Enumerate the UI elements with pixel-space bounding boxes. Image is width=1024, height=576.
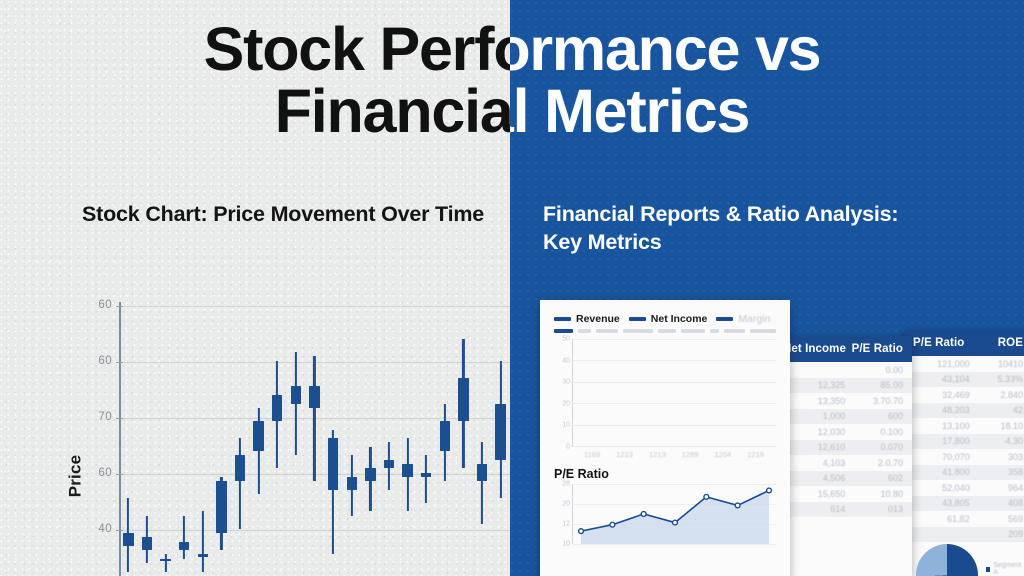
legend-swatch-icon xyxy=(986,567,990,572)
candlestick-wick xyxy=(164,554,166,571)
table-cell: 10410 xyxy=(978,359,1023,369)
table-header-cell: P/E Ratio xyxy=(850,343,903,355)
candlestick xyxy=(365,296,375,576)
table-row: 41,800358 xyxy=(904,465,1024,481)
candlestick xyxy=(440,296,450,576)
candlestick-body xyxy=(421,473,431,477)
candlestick xyxy=(235,296,245,576)
table-cell: 52,040 xyxy=(913,483,978,493)
table-cell: 42 xyxy=(978,405,1023,415)
candlestick-body xyxy=(477,464,487,481)
candlestick-wick xyxy=(481,442,483,524)
candlestick xyxy=(495,296,505,576)
table-row: 4,1032.0.70 xyxy=(774,455,912,471)
table-row: 17,8004.30 xyxy=(904,434,1024,450)
table-cell: 121,000 xyxy=(913,359,978,369)
table-cell: 13,350 xyxy=(783,396,853,406)
table-cell: 0.070 xyxy=(853,442,903,452)
candlestick xyxy=(198,296,208,576)
table-cell: 209 xyxy=(978,529,1023,539)
legend-swatch-icon xyxy=(716,317,733,321)
table-cell: 964 xyxy=(978,483,1023,493)
slide-canvas: Stock Performance vs Financial Metrics S… xyxy=(0,0,1024,576)
table-row: 209 xyxy=(904,527,1024,543)
candlestick xyxy=(328,296,338,576)
table-cell: 0.00 xyxy=(853,365,903,375)
table-cell: 12,030 xyxy=(783,427,853,437)
legend-label: Revenue xyxy=(576,313,620,325)
table-cell: 85.00 xyxy=(853,380,903,390)
candlestick-body xyxy=(347,477,357,490)
candlestick-body xyxy=(198,554,208,557)
candlestick-wick xyxy=(183,516,185,559)
x-axis-tick-label: 1169 xyxy=(584,450,600,459)
table-row: 614013 xyxy=(774,502,912,518)
table-cell: 358 xyxy=(978,467,1023,477)
candlestick-wick xyxy=(295,352,297,455)
table-row: 0.00 xyxy=(774,362,912,378)
y-axis-tick-label: 50 xyxy=(562,336,570,343)
candlestick xyxy=(216,296,226,576)
y-axis-tick-label: 60 xyxy=(72,355,112,367)
candlestick-body xyxy=(160,559,170,562)
table-cell: 5.33% xyxy=(978,374,1023,384)
document-card-netincome-table[interactable]: Net Income P/E Ratio 0.0012,32585.0013,3… xyxy=(774,336,912,576)
table-body: 121,0001041043,1045.33%32,4692.84048,203… xyxy=(904,356,1024,542)
candlestick-body xyxy=(216,481,226,533)
candlestick-body xyxy=(235,455,245,481)
grid-line: 0 xyxy=(573,446,776,447)
candlestick-body xyxy=(272,395,282,421)
candlestick xyxy=(458,296,468,576)
candlestick xyxy=(291,296,301,576)
pe-ratio-line-series xyxy=(573,484,777,544)
candlestick-body xyxy=(440,421,450,451)
legend-label: Net Income xyxy=(651,313,708,325)
table-row: 32,4692.840 xyxy=(904,387,1024,403)
table-row: 13,10018.10 xyxy=(904,418,1024,434)
table-cell: 48,203 xyxy=(913,405,978,415)
table-cell: 12,325 xyxy=(783,380,853,390)
table-cell: 12,610 xyxy=(783,442,853,452)
y-axis-tick-label: 60 xyxy=(72,467,112,479)
table-header-cell: P/E Ratio xyxy=(913,337,974,349)
candlestick-body xyxy=(179,542,189,551)
legend-label: Segment A xyxy=(993,562,1022,576)
table-cell: 4,103 xyxy=(783,458,853,468)
y-axis-tick-label: 40 xyxy=(562,357,570,364)
document-card-roe-table[interactable]: P/E Ratio ROE 121,0001041043,1045.33%32,… xyxy=(904,330,1024,576)
candlestick xyxy=(123,296,133,576)
legend-swatch-icon xyxy=(554,317,571,321)
bar-chart-x-axis: 116912131213128912041219 xyxy=(572,447,776,459)
left-panel-subheading: Stock Chart: Price Movement Over Time xyxy=(82,200,492,228)
table-cell: 18.10 xyxy=(978,421,1023,431)
candlestick-body xyxy=(253,421,263,451)
decorative-text-lines xyxy=(554,329,776,333)
legend-label: Margin xyxy=(738,313,770,325)
candlestick xyxy=(347,296,357,576)
candlestick xyxy=(384,296,394,576)
table-cell: 10.80 xyxy=(853,489,903,499)
table-cell: 41,800 xyxy=(913,467,978,477)
pie-chart-icon xyxy=(916,544,978,576)
table-cell: 70,070 xyxy=(913,452,978,462)
x-axis-tick-label: 1289 xyxy=(682,450,699,459)
y-axis-tick-label: 0 xyxy=(566,444,570,451)
candlestick-body xyxy=(458,378,468,421)
table-cell: 303 xyxy=(978,452,1023,462)
table-row: 52,040964 xyxy=(904,480,1024,496)
pie-chart-legend: Segment A xyxy=(986,562,1022,576)
table-row: 12,6100.070 xyxy=(774,440,912,456)
candlestick xyxy=(253,296,263,576)
candlestick-wick xyxy=(425,455,427,502)
candlestick-wick xyxy=(239,438,241,528)
table-cell: 4.30 xyxy=(978,436,1023,446)
y-axis-tick-label: 60 xyxy=(72,299,112,311)
candlestick xyxy=(421,296,431,576)
candlestick-series xyxy=(119,296,510,576)
table-cell: 600 xyxy=(853,411,903,421)
table-row: 43,1045.33% xyxy=(904,372,1024,388)
y-axis-tick-label: 30 xyxy=(562,379,570,386)
candlestick xyxy=(272,296,282,576)
candlestick-body xyxy=(328,438,338,490)
candlestick-body xyxy=(365,468,375,481)
table-cell: 2.0.70 xyxy=(853,458,903,468)
candlestick-wick xyxy=(313,356,315,481)
x-axis-tick-label: 1219 xyxy=(747,450,764,459)
table-cell: 569 xyxy=(978,514,1023,524)
table-cell: 4,506 xyxy=(783,473,853,483)
table-row: 43,805408 xyxy=(904,496,1024,512)
bar-series xyxy=(573,339,776,446)
table-cell: 32,469 xyxy=(913,390,978,400)
pe-ratio-chart-title: P/E Ratio xyxy=(554,467,776,481)
table-header-cell: ROE xyxy=(974,337,1023,349)
y-axis-tick-label: 28 xyxy=(562,481,570,488)
candlestick xyxy=(309,296,319,576)
table-header-row: P/E Ratio ROE xyxy=(904,330,1024,356)
table-cell: 17,800 xyxy=(913,436,978,446)
table-header-row: Net Income P/E Ratio xyxy=(774,336,912,362)
table-cell: 408 xyxy=(978,498,1023,508)
table-cell: 43,104 xyxy=(913,374,978,384)
candlestick xyxy=(179,296,189,576)
legend-item-margin: Margin xyxy=(716,313,770,325)
revenue-bar-chart: 50403020100 xyxy=(572,339,776,447)
table-row: 12,32585.00 xyxy=(774,378,912,394)
legend-item-net-income: Net Income xyxy=(629,313,708,325)
table-cell: 0.100 xyxy=(853,427,903,437)
table-body: 0.0012,32585.0013,3503.70.701,00060012,0… xyxy=(774,362,912,517)
candlestick-body xyxy=(495,404,505,460)
legend-swatch-icon xyxy=(629,317,646,321)
bar-chart-legend: Revenue Net Income Margin xyxy=(554,313,776,325)
table-cell: 1,000 xyxy=(783,411,853,421)
document-card-financial-report[interactable]: Revenue Net Income Margin xyxy=(540,300,790,576)
legend-item-revenue: Revenue xyxy=(554,313,620,325)
table-row: 15,65010.80 xyxy=(774,486,912,502)
table-row: 1,000600 xyxy=(774,409,912,425)
table-row: 13,3503.70.70 xyxy=(774,393,912,409)
candlestick-wick xyxy=(202,511,204,571)
x-axis-tick-label: 1213 xyxy=(649,450,666,459)
table-cell: 13,100 xyxy=(913,421,978,431)
candlestick xyxy=(142,296,152,576)
table-cell: 614 xyxy=(783,504,853,514)
y-axis-tick-label: 10 xyxy=(562,541,570,548)
table-cell: 15,650 xyxy=(783,489,853,499)
candlestick-body xyxy=(309,386,319,408)
table-row: 121,00010410 xyxy=(904,356,1024,372)
table-cell: 3.70.70 xyxy=(853,396,903,406)
table-row: 12,0300.100 xyxy=(774,424,912,440)
table-cell: 013 xyxy=(853,504,903,514)
x-axis-tick-label: 1204 xyxy=(714,450,731,459)
stock-candlestick-chart: Price 6060706040 xyxy=(70,296,510,576)
grid-line: 10 xyxy=(573,544,776,545)
table-cell: 2.840 xyxy=(978,390,1023,400)
table-header-cell: Net Income xyxy=(783,343,850,355)
candlestick-body xyxy=(384,460,394,469)
table-cell: 61,82 xyxy=(913,514,978,524)
candlestick-body xyxy=(123,533,133,546)
candlestick xyxy=(160,296,170,576)
y-axis-tick-label: 70 xyxy=(72,411,112,423)
table-row: 4,506602 xyxy=(774,471,912,487)
table-cell: 602 xyxy=(853,473,903,483)
candlestick-body xyxy=(402,464,412,477)
table-row: 48,20342 xyxy=(904,403,1024,419)
y-axis-tick-label: 12 xyxy=(562,520,570,527)
pe-ratio-line-chart: 28201210 xyxy=(572,484,776,544)
y-axis-tick-label: 20 xyxy=(562,400,570,407)
y-axis-tick-label: 20 xyxy=(562,500,570,507)
table-row: 61,82569 xyxy=(904,511,1024,527)
table-cell: 43,805 xyxy=(913,498,978,508)
candlestick-body xyxy=(291,386,301,403)
segment-pie-chart: Segment A xyxy=(916,544,978,576)
y-axis-tick-label: 10 xyxy=(562,422,570,429)
x-axis-tick-label: 1213 xyxy=(616,450,633,459)
y-axis-tick-label: 40 xyxy=(72,523,112,535)
table-row: 70,070303 xyxy=(904,449,1024,465)
right-panel-subheading: Financial Reports & Ratio Analysis: Key … xyxy=(543,200,933,257)
candlestick-body xyxy=(142,537,152,550)
candlestick xyxy=(477,296,487,576)
candlestick xyxy=(402,296,412,576)
